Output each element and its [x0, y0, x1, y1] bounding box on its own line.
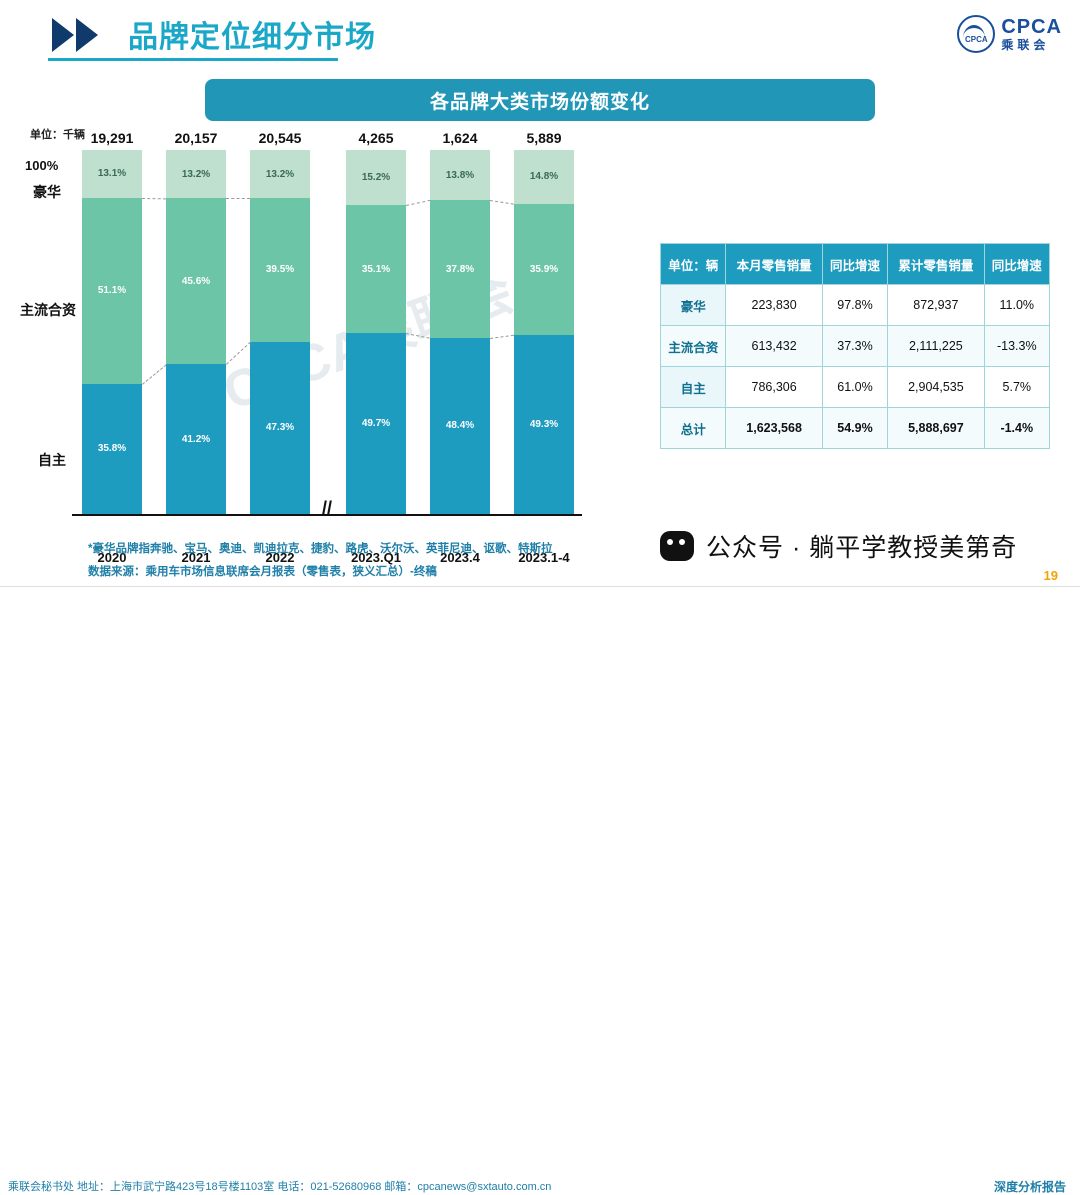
- table-cell: -13.3%: [984, 326, 1049, 367]
- bar-column: 20,54513.2%39.5%47.3%: [250, 150, 310, 514]
- page-footer: 乘联会秘书处 地址：上海市武宁路423号18号楼1103室 电话：021-526…: [0, 588, 1080, 608]
- table-header-cell: 同比增速: [984, 244, 1049, 285]
- table-body: 豪华223,83097.8%872,93711.0%主流合资613,43237.…: [661, 285, 1050, 449]
- bar-segment-own: 49.3%: [514, 335, 574, 514]
- segment-connector-line: [406, 200, 430, 206]
- cpca-logo-mark-icon: CPCA: [957, 15, 995, 53]
- chart-footnote-brands: *豪华品牌指奔驰、宝马、奥迪、凯迪拉克、捷豹、路虎、沃尔沃、英菲尼迪、讴歌、特斯…: [88, 540, 552, 556]
- table-cell: 872,937: [888, 285, 984, 326]
- bar-segment-lux: 14.8%: [514, 150, 574, 204]
- table-cell: 自主: [661, 367, 726, 408]
- table-header-cell: 本月零售销量: [726, 244, 822, 285]
- wechat-text: 公众号 · 躺平学教授美第奇: [706, 528, 1017, 564]
- bar-column: 19,29113.1%51.1%35.8%: [82, 150, 142, 514]
- table-row: 总计1,623,56854.9%5,888,697-1.4%: [661, 408, 1050, 449]
- cpca-logo-en: CPCA: [1001, 17, 1062, 37]
- bar-segment-joint: 51.1%: [82, 198, 142, 384]
- bar-segment-joint: 39.5%: [250, 198, 310, 342]
- bar-segment-joint: 37.8%: [430, 200, 490, 338]
- sales-table-wrap: 单位：辆本月零售销量同比增速累计零售销量同比增速 豪华223,83097.8%8…: [660, 243, 1050, 449]
- table-cell: 1,623,568: [726, 408, 822, 449]
- bar-segment-lux: 13.8%: [430, 150, 490, 200]
- bar-column: 20,15713.2%45.6%41.2%: [166, 150, 226, 514]
- section-banner: 各品牌大类市场份额变化: [205, 79, 875, 121]
- bar-segment-own: 49.7%: [346, 333, 406, 514]
- table-cell: 613,432: [726, 326, 822, 367]
- table-cell: 61.0%: [822, 367, 887, 408]
- bar-segment-joint: 45.6%: [166, 198, 226, 364]
- bar-segment-lux: 15.2%: [346, 150, 406, 205]
- bar-total-label: 4,265: [346, 130, 406, 150]
- page-number: 19: [1044, 568, 1058, 583]
- segment-connector-line: [226, 198, 250, 199]
- bar-segment-joint: 35.1%: [346, 205, 406, 333]
- chart-axis-top-label: 100%: [25, 158, 58, 173]
- table-cell: 主流合资: [661, 326, 726, 367]
- series-label-luxury: 豪华: [33, 182, 61, 202]
- segment-connector-line: [406, 333, 430, 339]
- footer-divider: [0, 586, 1080, 587]
- bar-total-label: 20,157: [166, 130, 226, 150]
- table-cell: -1.4%: [984, 408, 1049, 449]
- bar-segment-lux: 13.1%: [82, 150, 142, 198]
- table-row: 自主786,30661.0%2,904,5355.7%: [661, 367, 1050, 408]
- page-header: 品牌定位细分市场 CPCA CPCA 乘联会: [0, 0, 1080, 68]
- segment-connector-line: [142, 364, 167, 384]
- bar-column: 1,62413.8%37.8%48.4%: [430, 150, 490, 514]
- footer-report-label: 深度分析报告: [994, 1178, 1066, 1195]
- stacked-bar-chart: 单位：千辆 100% 豪华 主流合资 自主 19,29113.1%51.1%35…: [0, 120, 640, 550]
- series-label-joint: 主流合资: [20, 300, 76, 320]
- table-header-cell: 累计零售销量: [888, 244, 984, 285]
- table-header-cell: 同比增速: [822, 244, 887, 285]
- bar-total-label: 1,624: [430, 130, 490, 150]
- wechat-promo: 公众号 · 躺平学教授美第奇: [660, 528, 1017, 564]
- axis-break-marker: //: [322, 498, 332, 519]
- bar-total-label: 19,291: [82, 130, 142, 150]
- chevron-logo-icon: [52, 18, 122, 52]
- cpca-logo-text: CPCA 乘联会: [1001, 17, 1062, 51]
- bar-segment-lux: 13.2%: [250, 150, 310, 198]
- sales-table: 单位：辆本月零售销量同比增速累计零售销量同比增速 豪华223,83097.8%8…: [660, 243, 1050, 449]
- table-cell: 5,888,697: [888, 408, 984, 449]
- bar-column: 5,88914.8%35.9%49.3%: [514, 150, 574, 514]
- table-cell: 11.0%: [984, 285, 1049, 326]
- table-cell: 5.7%: [984, 367, 1049, 408]
- bar-column: 4,26515.2%35.1%49.7%: [346, 150, 406, 514]
- segment-connector-line: [142, 198, 166, 199]
- bar-segment-own: 48.4%: [430, 338, 490, 514]
- series-label-own: 自主: [38, 450, 66, 470]
- cpca-logo: CPCA CPCA 乘联会: [957, 14, 1062, 54]
- table-header-cell: 单位：辆: [661, 244, 726, 285]
- table-cell: 223,830: [726, 285, 822, 326]
- segment-connector-line: [226, 342, 251, 365]
- bar-total-label: 5,889: [514, 130, 574, 150]
- table-header-row: 单位：辆本月零售销量同比增速累计零售销量同比增速: [661, 244, 1050, 285]
- bar-segment-own: 47.3%: [250, 342, 310, 514]
- table-row: 豪华223,83097.8%872,93711.0%: [661, 285, 1050, 326]
- segment-connector-line: [490, 335, 514, 339]
- table-cell: 37.3%: [822, 326, 887, 367]
- segment-connector-line: [490, 200, 514, 205]
- table-cell: 2,904,535: [888, 367, 984, 408]
- table-cell: 786,306: [726, 367, 822, 408]
- title-underline: [48, 58, 338, 61]
- table-cell: 2,111,225: [888, 326, 984, 367]
- cpca-logo-cn: 乘联会: [1001, 39, 1062, 51]
- cpca-logo-mark-text: CPCA: [965, 35, 988, 44]
- table-cell: 豪华: [661, 285, 726, 326]
- table-row: 主流合资613,43237.3%2,111,225-13.3%: [661, 326, 1050, 367]
- table-cell: 总计: [661, 408, 726, 449]
- footer-contact: 乘联会秘书处 地址：上海市武宁路423号18号楼1103室 电话：021-526…: [8, 1178, 551, 1194]
- chart-plot-area: 19,29113.1%51.1%35.8%202020,15713.2%45.6…: [78, 150, 578, 514]
- chart-footnote-source: 数据来源：乘用车市场信息联席会月报表（零售表，狭义汇总）-终稿: [88, 563, 437, 579]
- table-cell: 54.9%: [822, 408, 887, 449]
- bar-segment-own: 41.2%: [166, 364, 226, 514]
- chart-unit-label: 单位：千辆: [30, 126, 85, 142]
- table-cell: 97.8%: [822, 285, 887, 326]
- bar-segment-lux: 13.2%: [166, 150, 226, 198]
- wechat-icon: [660, 531, 694, 561]
- bar-total-label: 20,545: [250, 130, 310, 150]
- bar-segment-own: 35.8%: [82, 384, 142, 514]
- bar-segment-joint: 35.9%: [514, 204, 574, 335]
- page-title: 品牌定位细分市场: [128, 12, 376, 56]
